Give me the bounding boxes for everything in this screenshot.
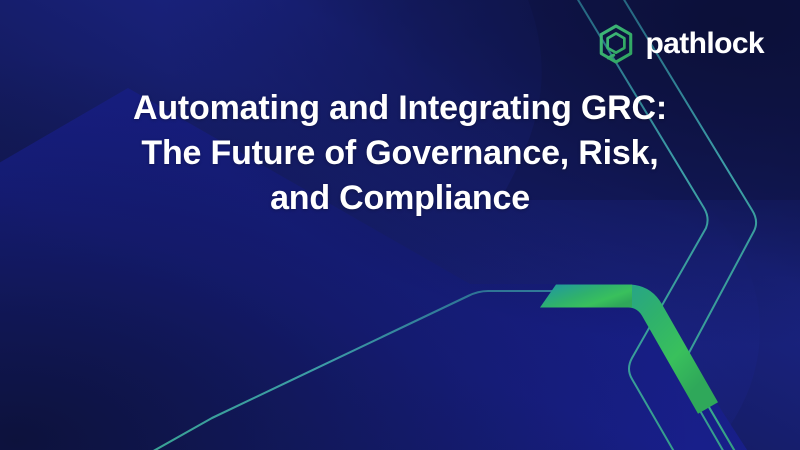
title-line-3: and Compliance	[60, 176, 740, 221]
title-line-2: The Future of Governance, Risk,	[60, 131, 740, 176]
pathlock-logo: pathlock	[596, 23, 764, 65]
title-line-1: Automating and Integrating GRC:	[60, 86, 740, 131]
title-block: Automating and Integrating GRC: The Futu…	[0, 86, 800, 221]
slide-title: Automating and Integrating GRC: The Futu…	[60, 86, 740, 221]
slide-background-graphics	[0, 0, 800, 450]
presentation-slide: pathlock Automating and Integrating GRC:…	[0, 0, 800, 450]
thick-green-stroke-tail	[540, 285, 632, 308]
pathlock-hexagon-logo-icon	[596, 23, 636, 65]
pathlock-wordmark: pathlock	[645, 29, 764, 59]
